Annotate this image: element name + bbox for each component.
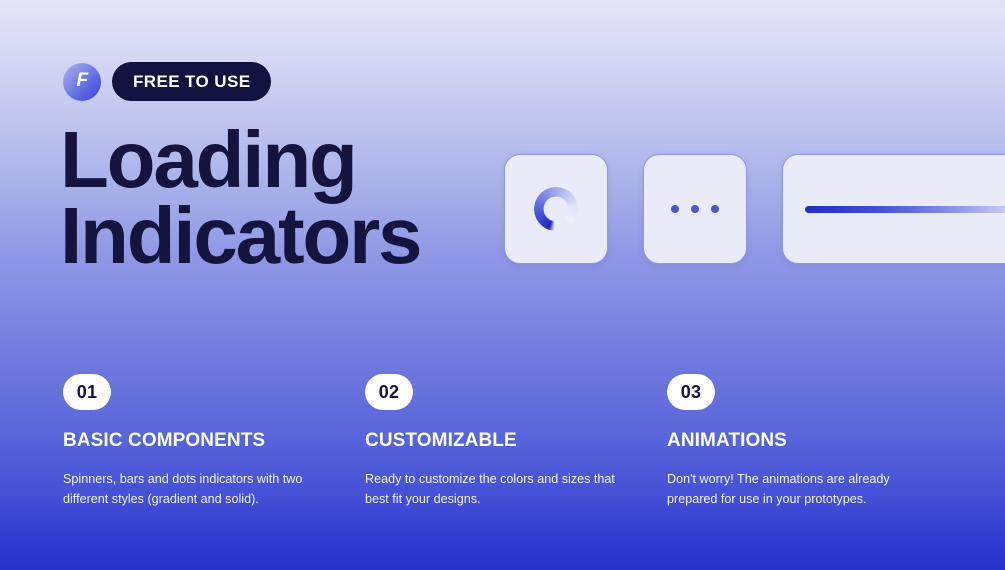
three-dots-icon — [671, 205, 719, 213]
showcase-card-group — [504, 154, 1005, 264]
card-progress-bar[interactable] — [782, 154, 1005, 264]
feature-number-badge: 03 — [667, 374, 715, 410]
feature-description: Spinners, bars and dots indicators with … — [63, 469, 335, 509]
dot-1 — [671, 205, 679, 213]
feature-description: Ready to customize the colors and sizes … — [365, 469, 637, 509]
feature-column-02: 02 CUSTOMIZABLE Ready to customize the c… — [365, 374, 667, 509]
feature-number-badge: 02 — [365, 374, 413, 410]
dot-2 — [691, 205, 699, 213]
free-to-use-badge: FREE TO USE — [112, 62, 271, 101]
dot-3 — [711, 205, 719, 213]
progress-bar-icon — [805, 206, 1005, 213]
f-monogram-icon: F — [63, 63, 101, 101]
page-title: Loading Indicators — [60, 122, 420, 274]
logo-letter: F — [76, 71, 87, 90]
feature-title: BASIC COMPONENTS — [63, 431, 365, 452]
feature-title: CUSTOMIZABLE — [365, 431, 667, 452]
card-dots[interactable] — [643, 154, 747, 264]
feature-title: ANIMATIONS — [667, 431, 963, 452]
feature-description: Don't worry! The animations are already … — [667, 469, 939, 509]
feature-column-01: 01 BASIC COMPONENTS Spinners, bars and d… — [63, 374, 365, 509]
card-spinner[interactable] — [504, 154, 608, 264]
feature-number-badge: 01 — [63, 374, 111, 410]
feature-columns: 01 BASIC COMPONENTS Spinners, bars and d… — [63, 374, 963, 509]
feature-column-03: 03 ANIMATIONS Don't worry! The animation… — [667, 374, 963, 509]
poster-canvas: F FREE TO USE Loading Indicators 01 BASI… — [0, 0, 1005, 570]
brand-badge-row: F FREE TO USE — [63, 62, 271, 101]
circular-spinner-icon — [534, 187, 578, 231]
